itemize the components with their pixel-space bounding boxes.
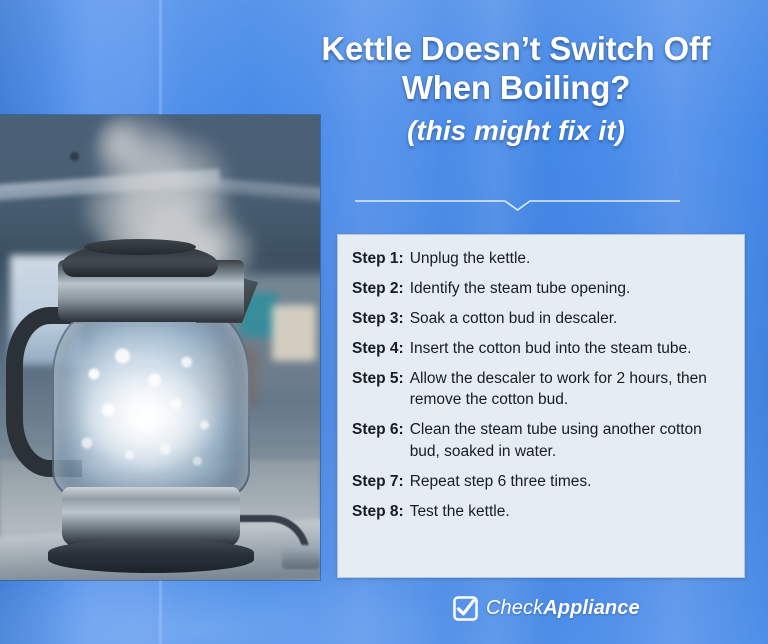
brand-logo[interactable]: CheckAppliance	[453, 596, 640, 621]
step-text: Test the kettle.	[410, 501, 730, 522]
checkbox-check-icon	[453, 596, 478, 621]
page-subtitle: (this might fix it)	[272, 115, 760, 147]
step-row: Step 1: Unplug the kettle.	[352, 248, 730, 269]
step-text: Repeat step 6 three times.	[410, 471, 730, 492]
step-label: Step 8:	[352, 501, 404, 522]
step-row: Step 4: Insert the cotton bud into the s…	[352, 338, 730, 359]
step-row: Step 6: Clean the steam tube using anoth…	[352, 419, 730, 461]
step-label: Step 6:	[352, 419, 404, 461]
step-text: Allow the descaler to work for 2 hours, …	[410, 368, 730, 410]
step-label: Step 1:	[352, 248, 404, 269]
step-label: Step 7:	[352, 471, 404, 492]
step-label: Step 2:	[352, 278, 404, 299]
step-text: Unplug the kettle.	[410, 248, 730, 269]
step-row: Step 5: Allow the descaler to work for 2…	[352, 368, 730, 410]
title-line-2: When Boiling?	[272, 69, 760, 108]
step-row: Step 2: Identify the steam tube opening.	[352, 278, 730, 299]
step-row: Step 7: Repeat step 6 three times.	[352, 471, 730, 492]
step-text: Identify the steam tube opening.	[410, 278, 730, 299]
step-row: Step 8: Test the kettle.	[352, 501, 730, 522]
page-title: Kettle Doesn’t Switch Off When Boiling?	[272, 30, 760, 107]
divider-with-notch	[355, 198, 680, 212]
brand-name-light: Check	[486, 597, 543, 619]
headline-block: Kettle Doesn’t Switch Off When Boiling? …	[272, 30, 760, 147]
step-text: Soak a cotton bud in descaler.	[410, 308, 730, 329]
step-label: Step 4:	[352, 338, 404, 359]
step-row: Step 3: Soak a cotton bud in descaler.	[352, 308, 730, 329]
photo-vignette	[0, 115, 320, 580]
step-label: Step 5:	[352, 368, 404, 410]
steps-panel: Step 1: Unplug the kettle. Step 2: Ident…	[337, 234, 745, 578]
step-text: Insert the cotton bud into the steam tub…	[410, 338, 730, 359]
step-label: Step 3:	[352, 308, 404, 329]
kettle-photo	[0, 115, 320, 580]
step-text: Clean the steam tube using another cotto…	[410, 419, 730, 461]
brand-name: CheckAppliance	[486, 597, 640, 620]
title-line-1: Kettle Doesn’t Switch Off	[272, 30, 760, 69]
brand-name-bold: Appliance	[543, 597, 639, 619]
